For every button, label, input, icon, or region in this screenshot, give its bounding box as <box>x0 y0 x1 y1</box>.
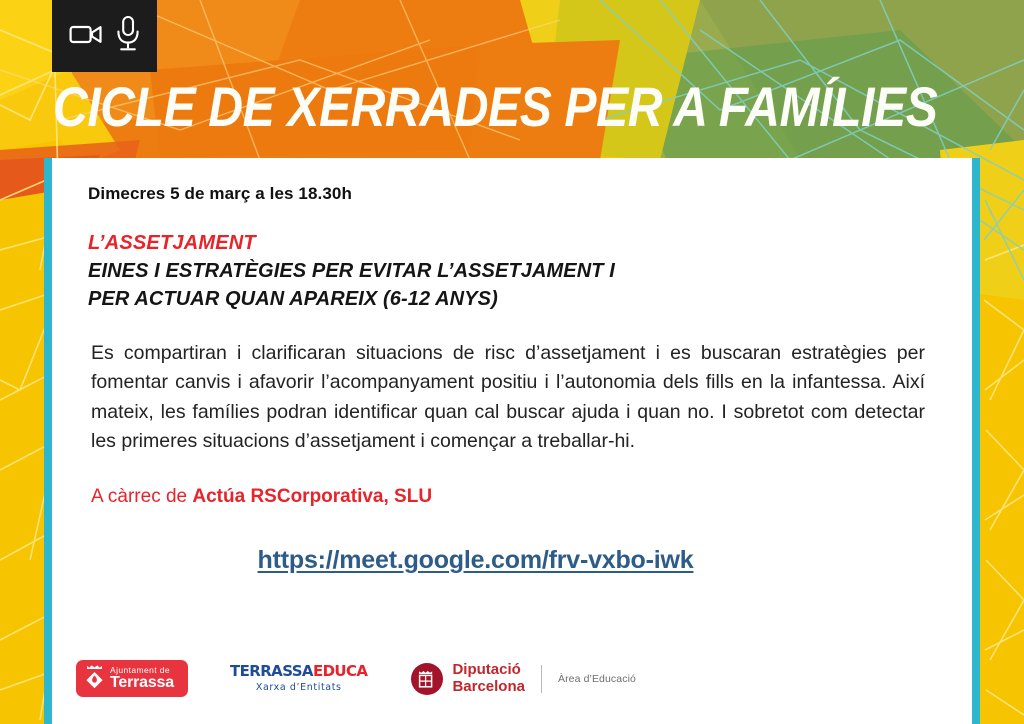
title-main-text: CICLE DE XERRADES PER A FAMÍLIES <box>53 79 937 135</box>
diputacio-line-1: Diputació <box>452 661 520 678</box>
poster-title: CICLE DE XERRADES PER A FAMÍLIES 2025 <box>53 78 1024 136</box>
meeting-icons-badge <box>52 0 157 72</box>
talk-title: L’ASSETJAMENT <box>88 232 933 255</box>
diputacio-area-label: Àrea d’Educació <box>558 673 636 685</box>
educa-word-educa: EDUCA <box>313 662 368 680</box>
credit-prefix: A càrrec de <box>91 486 192 507</box>
terrassa-crest-icon <box>83 664 105 694</box>
logo-ajuntament-terrassa: Ajuntament de Terrassa <box>76 660 188 697</box>
google-meet-link[interactable]: https://meet.google.com/frv-vxbo-iwk <box>258 546 694 574</box>
footer-logos: Ajuntament de Terrassa TERRASSAEDUCA Xar… <box>76 660 636 697</box>
card-stripe-right <box>972 158 980 724</box>
terrassa-wordmark: Ajuntament de Terrassa <box>110 666 174 692</box>
header-band: CICLE DE XERRADES PER A FAMÍLIES 2025 <box>0 0 1024 158</box>
diputacio-crest-icon <box>411 663 443 695</box>
diputacio-wordmark: Diputació Barcelona <box>452 662 525 696</box>
educa-tagline-a: Xarxa d <box>256 682 297 693</box>
terrassa-line-2: Terrassa <box>110 675 174 691</box>
credit-organization: Actúa RSCorporativa, SLU <box>192 486 432 507</box>
video-camera-icon <box>69 22 103 46</box>
talk-subtitle: EINES I ESTRATÈGIES PER EVITAR L’ASSETJA… <box>88 258 933 313</box>
content-card: Dimecres 5 de març a les 18.30h L’ASSETJ… <box>44 158 980 724</box>
presenter-credit: A càrrec de Actúa RSCorporativa, SLU <box>91 486 933 508</box>
logo-divider <box>541 665 542 693</box>
logo-terrassa-educa: TERRASSAEDUCA Xarxa d’Entitats <box>230 664 367 693</box>
card-stripe-left <box>44 158 52 724</box>
educa-tagline-b: Entitats <box>300 682 341 693</box>
meet-link-row: https://meet.google.com/frv-vxbo-iwk <box>88 546 933 575</box>
talk-description: Es compartiran i clarificaran situacions… <box>91 339 925 456</box>
terrassaeduca-wordmark: TERRASSAEDUCA <box>230 664 367 679</box>
diputacio-line-2: Barcelona <box>452 678 525 695</box>
talk-subtitle-line-2: PER ACTUAR QUAN APAREIX (6-12 ANYS) <box>88 288 498 310</box>
educa-tagline: Xarxa d’Entitats <box>256 682 342 693</box>
event-date: Dimecres 5 de març a les 18.30h <box>88 184 933 204</box>
microphone-icon <box>115 15 141 53</box>
educa-word-terrassa: TERRASSA <box>230 662 313 680</box>
poster: CICLE DE XERRADES PER A FAMÍLIES 2025 Di… <box>0 0 1024 724</box>
talk-subtitle-line-1: EINES I ESTRATÈGIES PER EVITAR L’ASSETJA… <box>88 260 615 282</box>
terrassa-line-1: Ajuntament de <box>110 666 174 675</box>
logo-diputacio-barcelona: Diputació Barcelona Àrea d’Educació <box>411 662 636 696</box>
